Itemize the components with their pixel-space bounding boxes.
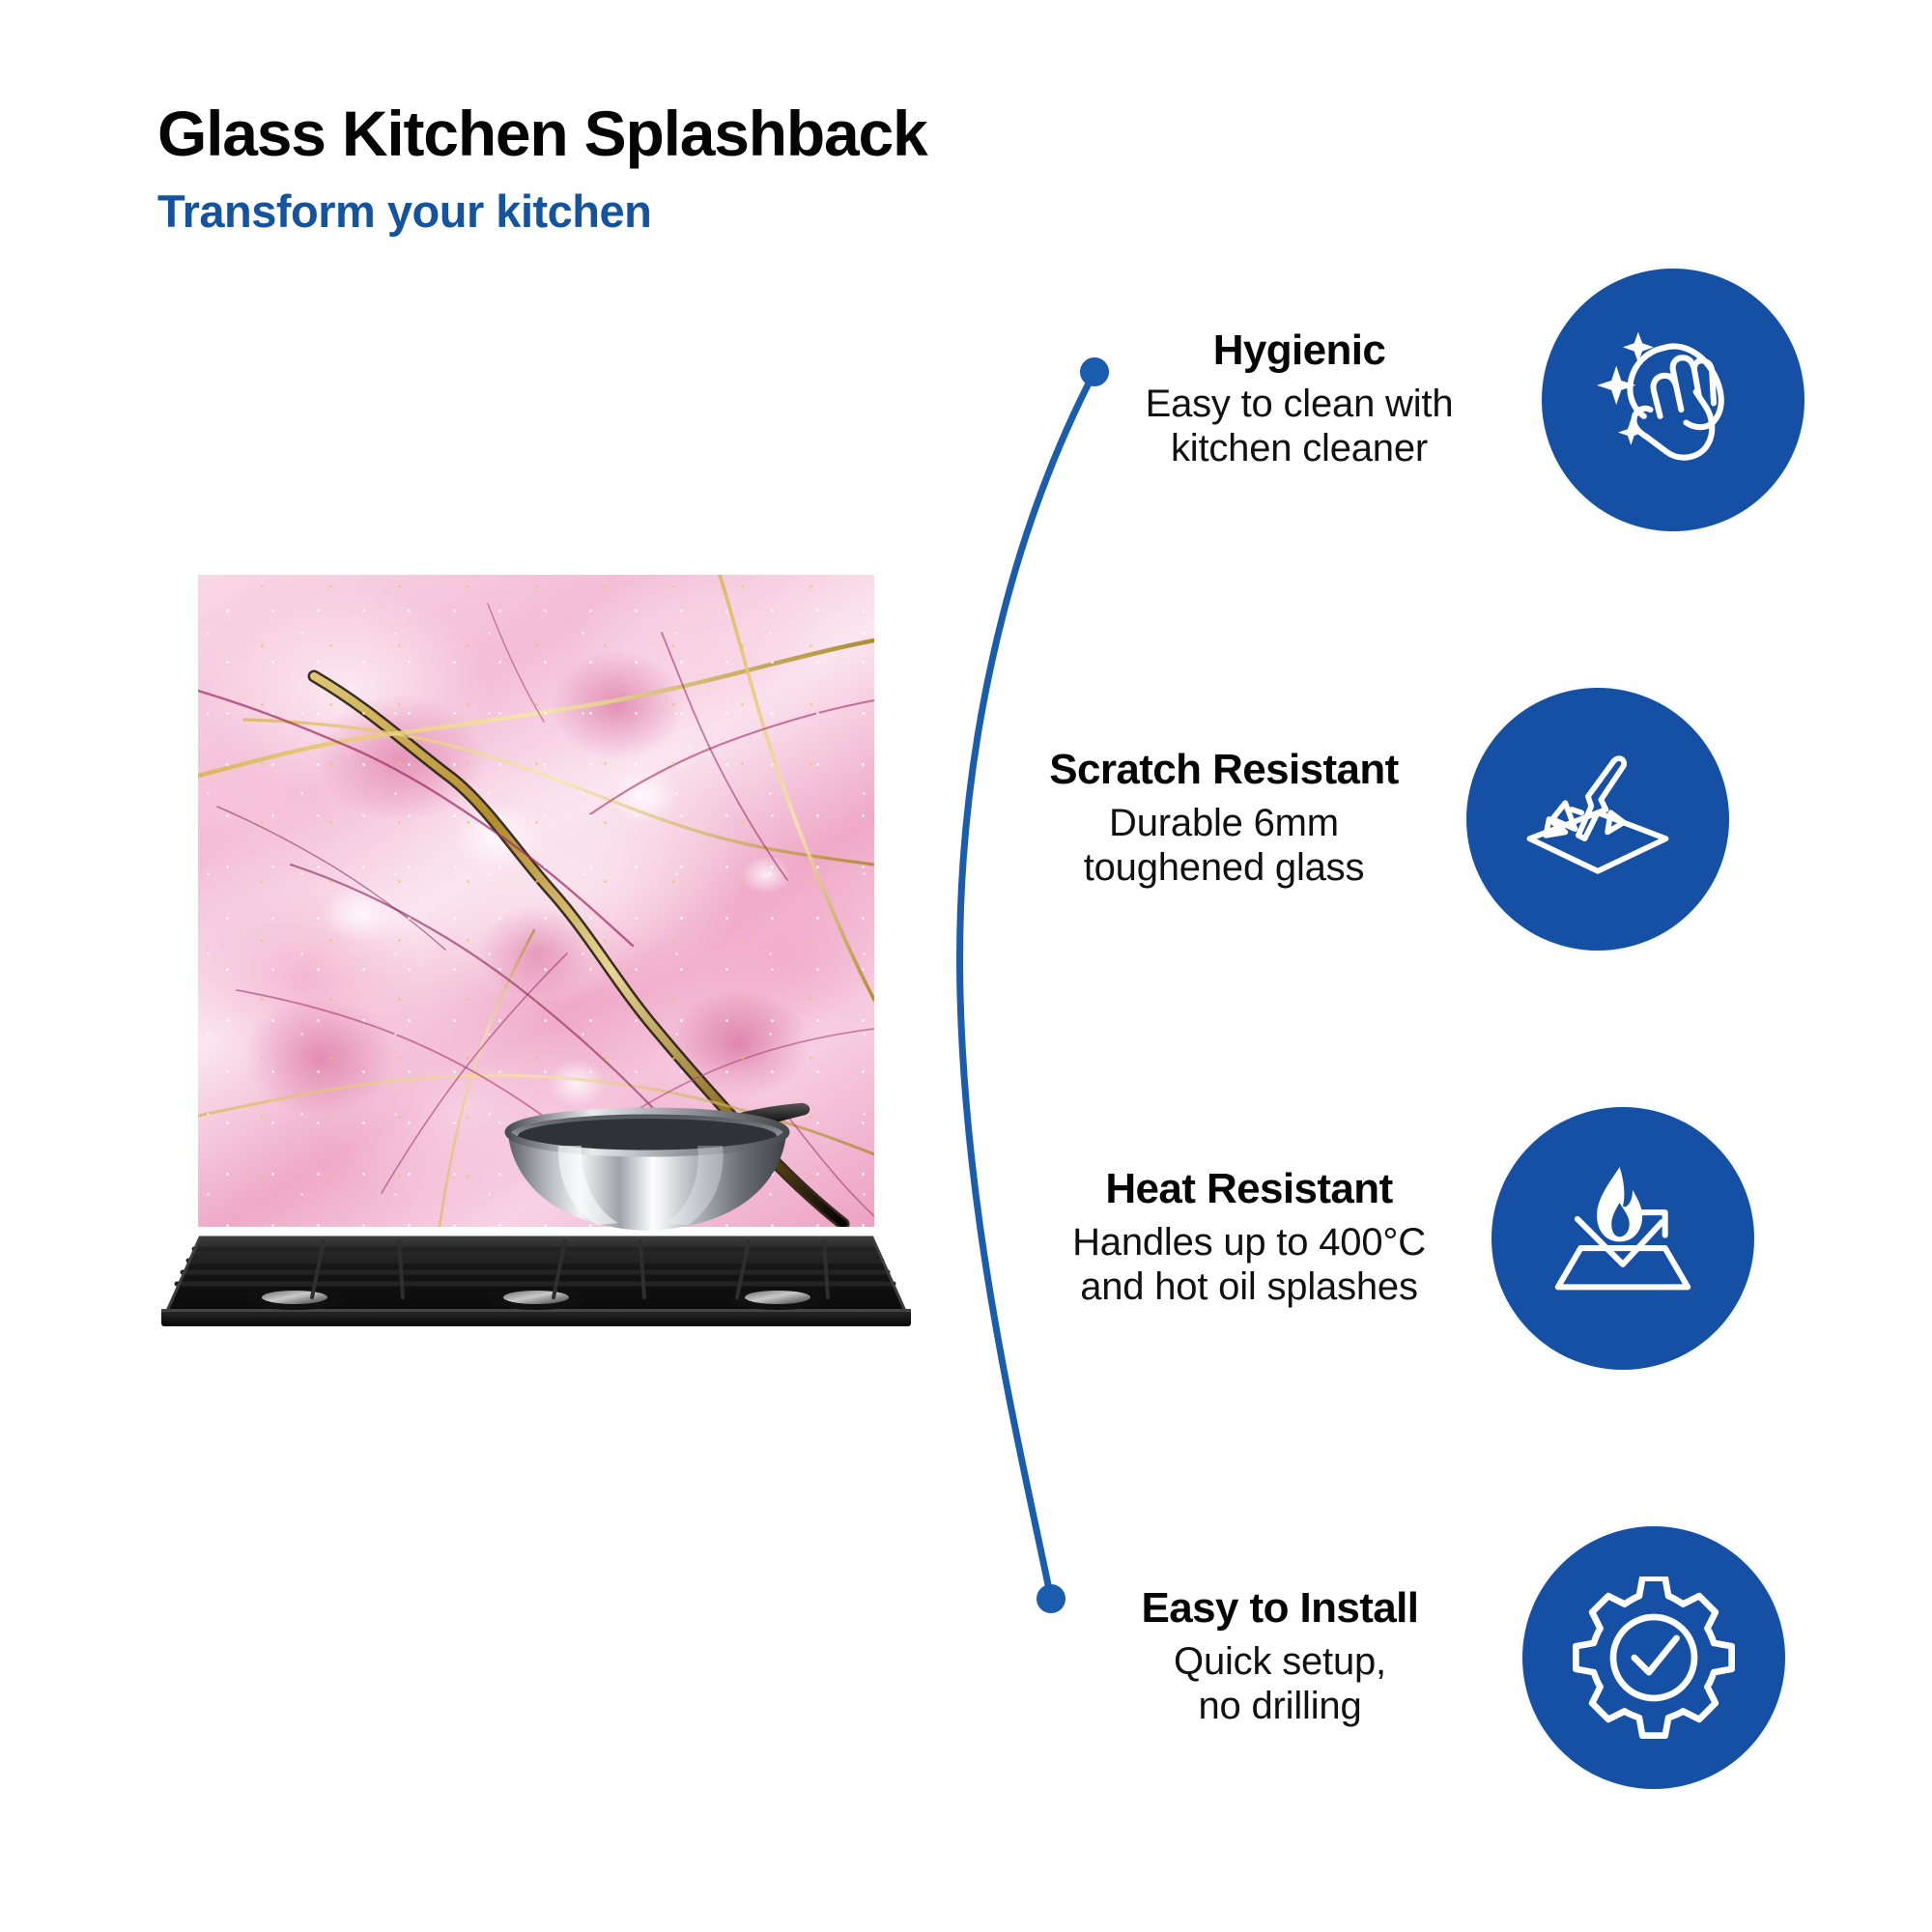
hand-wiping-sparkle-icon xyxy=(1542,269,1804,531)
feature-text: Hygienic Easy to clean with kitchen clea… xyxy=(1092,328,1507,470)
feature-desc-line-2: kitchen cleaner xyxy=(1092,426,1507,470)
feature-text: Scratch Resistant Durable 6mm toughened … xyxy=(1016,748,1432,890)
feature-text: Easy to Install Quick setup, no drilling xyxy=(1072,1586,1488,1728)
page-title: Glass Kitchen Splashback xyxy=(157,101,1317,166)
feature-title: Hygienic xyxy=(1092,328,1507,374)
feature-easy-to-install: Easy to Install Quick setup, no drilling xyxy=(1072,1526,1785,1789)
feature-heat-resistant: Heat Resistant Handles up to 400°C and h… xyxy=(1041,1107,1754,1370)
feature-scratch-resistant: Scratch Resistant Durable 6mm toughened … xyxy=(1016,688,1729,951)
flame-deflect-surface-icon xyxy=(1492,1107,1754,1370)
knife-scratch-surface-icon xyxy=(1466,688,1729,951)
feature-title: Scratch Resistant xyxy=(1016,748,1432,793)
header: Glass Kitchen Splashback Transform your … xyxy=(157,101,1317,236)
connector-dot-bottom xyxy=(1037,1584,1065,1613)
feature-desc-line-1: Quick setup, xyxy=(1072,1639,1488,1684)
feature-title: Heat Resistant xyxy=(1041,1167,1457,1212)
feature-desc-line-1: Easy to clean with xyxy=(1092,382,1507,426)
feature-desc-line-1: Handles up to 400°C xyxy=(1041,1220,1457,1264)
feature-desc-line-1: Durable 6mm xyxy=(1016,801,1432,845)
feature-desc-line-2: and hot oil splashes xyxy=(1041,1264,1457,1309)
feature-desc-line-2: no drilling xyxy=(1072,1684,1488,1728)
feature-hygienic: Hygienic Easy to clean with kitchen clea… xyxy=(1092,269,1804,531)
saucepan xyxy=(473,1101,821,1256)
gear-check-icon xyxy=(1522,1526,1785,1789)
product-image xyxy=(145,565,927,1348)
feature-desc-line-2: toughened glass xyxy=(1016,845,1432,890)
page-subtitle: Transform your kitchen xyxy=(157,187,1317,235)
feature-title: Easy to Install xyxy=(1072,1586,1488,1632)
feature-text: Heat Resistant Handles up to 400°C and h… xyxy=(1041,1167,1457,1309)
